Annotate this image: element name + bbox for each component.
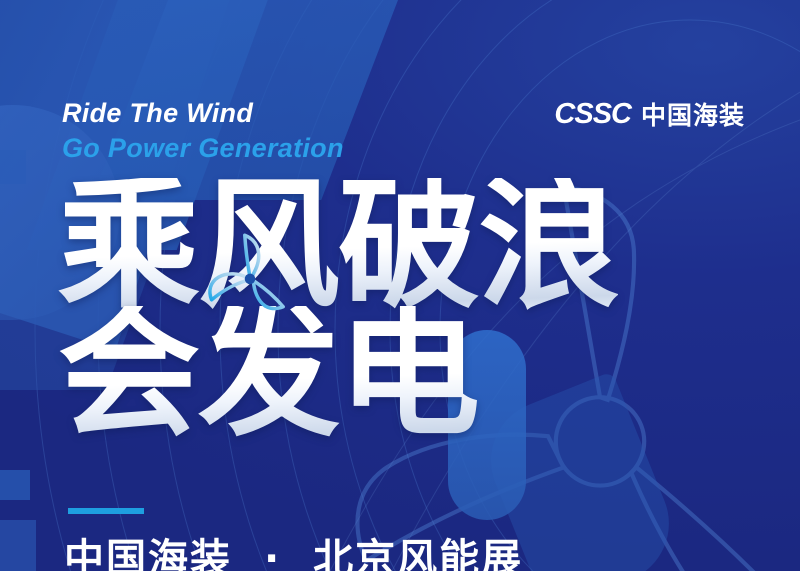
headline-line-2: 会发电 bbox=[58, 306, 618, 442]
brand-name-cn: 中国海装 bbox=[641, 96, 745, 132]
poster-content: Ride The Wind Go Power Generation CSSC 中… bbox=[0, 0, 800, 571]
caption: 中国海装 · 北京风能展 bbox=[64, 536, 523, 571]
caption-event: 北京风能展 bbox=[313, 536, 523, 571]
caption-org: 中国海装 bbox=[64, 536, 232, 571]
brand-mark: CSSC bbox=[554, 98, 631, 131]
headline: 乘风破浪 会发电 bbox=[58, 178, 618, 443]
brand-logo: CSSC 中国海装 bbox=[554, 96, 745, 132]
caption-separator: · bbox=[264, 536, 281, 571]
tagline-line-1: Ride The Wind bbox=[62, 96, 344, 131]
accent-rule bbox=[68, 508, 144, 514]
poster-root: RIDE WIND Ride The Wind Go Power Generat… bbox=[0, 0, 800, 571]
tagline-line-2: Go Power Generation bbox=[62, 131, 344, 166]
tagline: Ride The Wind Go Power Generation bbox=[62, 96, 344, 165]
